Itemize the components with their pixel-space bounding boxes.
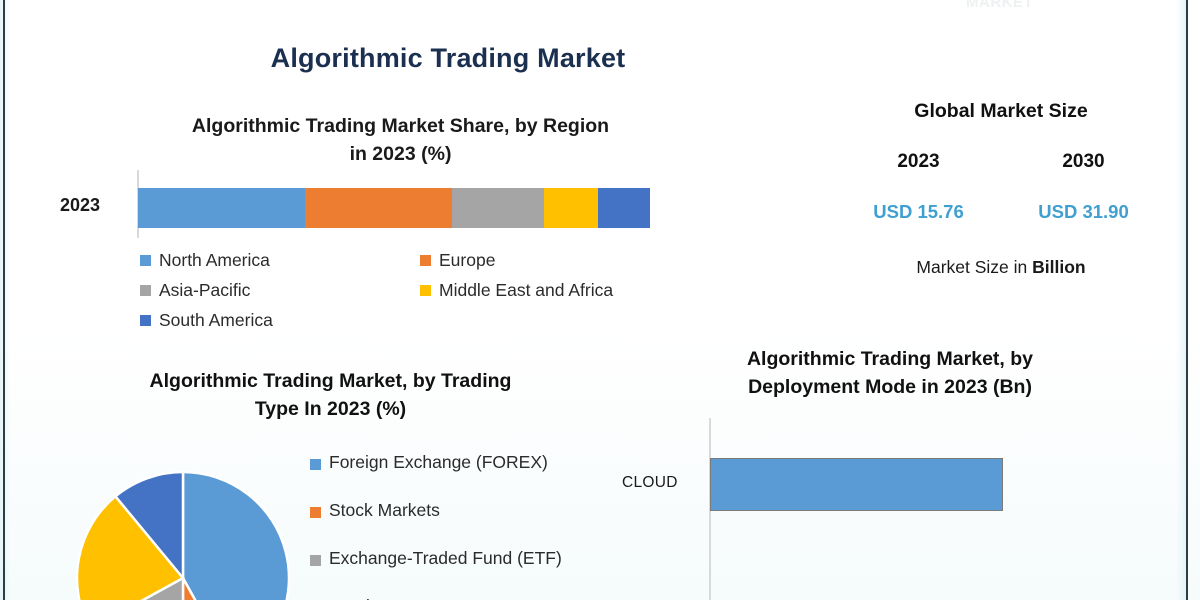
trading-type-legend-label: Exchange-Traded Fund (ETF) bbox=[329, 548, 562, 569]
legend-swatch-icon bbox=[140, 255, 151, 266]
right-frame-rule bbox=[1186, 0, 1188, 600]
region-chart-title-line2: in 2023 (%) bbox=[118, 140, 683, 168]
market-size-value-start: USD 15.76 bbox=[836, 201, 1001, 223]
pie-slice-0[interactable] bbox=[183, 472, 289, 600]
deployment-title-line1: Algorithmic Trading Market, by bbox=[640, 345, 1140, 373]
market-size-values-row: USD 15.76 USD 31.90 bbox=[836, 201, 1166, 223]
trading-type-title-line2: Type In 2023 (%) bbox=[48, 395, 613, 423]
region-legend-label: Europe bbox=[439, 250, 495, 271]
deployment-bar-cloud[interactable] bbox=[710, 458, 1003, 511]
market-size-year-start: 2023 bbox=[836, 151, 1001, 173]
deployment-chart-title: Algorithmic Trading Market, by Deploymen… bbox=[640, 345, 1140, 402]
region-legend-item[interactable]: Middle East and Africa bbox=[420, 280, 700, 301]
region-legend-label: Middle East and Africa bbox=[439, 280, 613, 301]
trading-type-legend-item[interactable]: Exchange-Traded Fund (ETF) bbox=[310, 548, 562, 569]
region-legend-item[interactable]: Asia-Pacific bbox=[140, 280, 420, 301]
page-title: Algorithmic Trading Market bbox=[0, 43, 1048, 74]
trading-type-title-line1: Algorithmic Trading Market, by Trading bbox=[48, 367, 613, 395]
left-edge-glow bbox=[0, 0, 10, 600]
trading-type-legend-item[interactable]: Foreign Exchange (FOREX) bbox=[310, 452, 562, 473]
legend-swatch-icon bbox=[420, 255, 431, 266]
legend-swatch-icon bbox=[310, 555, 321, 566]
region-legend-label: Asia-Pacific bbox=[159, 280, 250, 301]
trading-type-pie-chart[interactable] bbox=[70, 450, 300, 600]
region-chart-title: Algorithmic Trading Market Share, by Reg… bbox=[118, 112, 683, 169]
legend-swatch-icon bbox=[310, 459, 321, 470]
region-legend-item[interactable]: Europe bbox=[420, 250, 700, 271]
region-stacked-bar[interactable] bbox=[138, 188, 650, 228]
region-chart-title-line1: Algorithmic Trading Market Share, by Reg… bbox=[118, 112, 683, 140]
region-segment-3[interactable] bbox=[544, 188, 598, 228]
legend-swatch-icon bbox=[420, 285, 431, 296]
market-size-note: Market Size in Billion bbox=[836, 257, 1166, 278]
trading-type-legend-label: Foreign Exchange (FOREX) bbox=[329, 452, 548, 473]
left-frame-rule bbox=[3, 0, 5, 600]
region-legend-item[interactable]: South America bbox=[140, 310, 420, 331]
region-legend-label: North America bbox=[159, 250, 270, 271]
global-market-size-panel: Global Market Size 2023 2030 USD 15.76 U… bbox=[836, 100, 1166, 278]
region-segment-4[interactable] bbox=[598, 188, 650, 228]
deployment-category-label: CLOUD bbox=[622, 474, 678, 492]
region-legend-item[interactable]: North America bbox=[140, 250, 420, 271]
global-market-size-title: Global Market Size bbox=[836, 100, 1166, 123]
clipped-top-text: MARKET bbox=[966, 0, 1033, 11]
region-segment-0[interactable] bbox=[138, 188, 305, 228]
legend-swatch-icon bbox=[140, 285, 151, 296]
region-segment-1[interactable] bbox=[305, 188, 452, 228]
region-segment-2[interactable] bbox=[452, 188, 544, 228]
market-size-note-unit: Billion bbox=[1032, 257, 1085, 277]
trading-type-chart-title: Algorithmic Trading Market, by Trading T… bbox=[48, 367, 613, 424]
trading-type-legend-item[interactable]: Bonds bbox=[310, 596, 562, 600]
region-legend-label: South America bbox=[159, 310, 273, 331]
deployment-title-line2: Deployment Mode in 2023 (Bn) bbox=[640, 373, 1140, 401]
region-chart-category-label: 2023 bbox=[60, 195, 100, 216]
market-size-years-row: 2023 2030 bbox=[836, 151, 1166, 173]
trading-type-legend-item[interactable]: Stock Markets bbox=[310, 500, 562, 521]
pie-svg bbox=[70, 450, 300, 600]
legend-swatch-icon bbox=[310, 507, 321, 518]
market-size-value-end: USD 31.90 bbox=[1001, 201, 1166, 223]
infographic-canvas: MARKET Algorithmic Trading Market Algori… bbox=[0, 0, 1200, 600]
trading-type-legend-label: Stock Markets bbox=[329, 500, 440, 521]
right-edge-glow bbox=[1176, 0, 1186, 600]
market-size-note-prefix: Market Size in bbox=[916, 257, 1032, 277]
trading-type-legend: Foreign Exchange (FOREX)Stock MarketsExc… bbox=[310, 452, 562, 600]
legend-swatch-icon bbox=[140, 315, 151, 326]
market-size-year-end: 2030 bbox=[1001, 151, 1166, 173]
trading-type-legend-label: Bonds bbox=[329, 596, 379, 600]
region-chart-legend: North AmericaEuropeAsia-PacificMiddle Ea… bbox=[140, 250, 700, 340]
